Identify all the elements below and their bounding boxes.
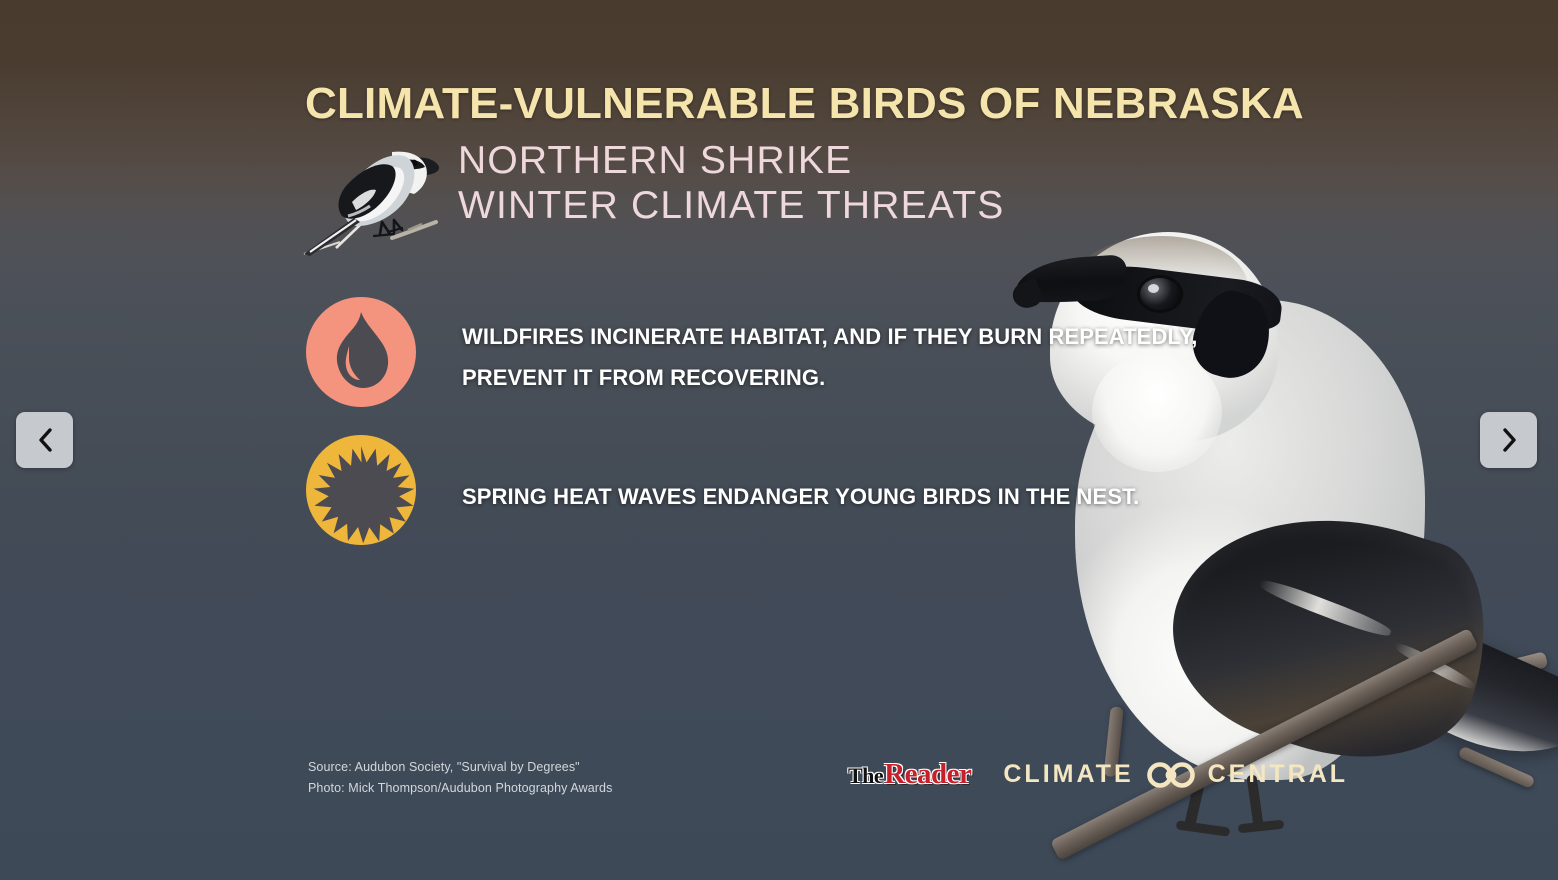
slide-subtitle: NORTHERN SHRIKE WINTER CLIMATE THREATS	[458, 138, 1004, 228]
prev-slide-button[interactable]	[16, 412, 73, 468]
chevron-left-icon	[36, 427, 54, 453]
photo-credit: Photo: Mick Thompson/Audubon Photography…	[308, 778, 612, 799]
shrike-illustration-icon	[296, 130, 446, 256]
source-credit: Source: Audubon Society, "Survival by De…	[308, 757, 612, 778]
page-title: CLIMATE-VULNERABLE BIRDS OF NEBRASKA	[305, 79, 1304, 129]
threat-text: SPRING HEAT WAVES ENDANGER YOUNG BIRDS I…	[462, 434, 1139, 517]
the-reader-logo: The Reader	[848, 760, 971, 789]
climate-central-logo: CLIMATE CENTRAL	[1003, 760, 1348, 789]
climate-central-word-right: CENTRAL	[1208, 760, 1348, 789]
branch-twig	[1458, 746, 1536, 790]
threat-item: SPRING HEAT WAVES ENDANGER YOUNG BIRDS I…	[305, 434, 1139, 546]
species-name: NORTHERN SHRIKE	[458, 139, 852, 182]
infinity-rings-icon	[1145, 762, 1197, 788]
slide-canvas: CLIMATE-VULNERABLE BIRDS OF NEBRASKA NOR…	[0, 0, 1558, 880]
bird-foot	[1238, 820, 1285, 834]
sun-icon	[305, 434, 417, 546]
threat-item: WILDFIRES INCINERATE HABITAT, AND IF THE…	[305, 296, 1262, 408]
chevron-right-icon	[1500, 427, 1518, 453]
climate-central-word-left: CLIMATE	[1003, 760, 1133, 789]
threat-text: WILDFIRES INCINERATE HABITAT, AND IF THE…	[462, 296, 1262, 398]
threat-category: WINTER CLIMATE THREATS	[458, 183, 1004, 228]
bird-foot	[1176, 820, 1231, 836]
logo-row: The Reader CLIMATE CENTRAL	[848, 760, 1348, 789]
credits: Source: Audubon Society, "Survival by De…	[308, 757, 612, 799]
the-reader-the: The	[848, 765, 883, 787]
flame-icon	[305, 296, 417, 408]
the-reader-name: Reader	[884, 760, 971, 789]
next-slide-button[interactable]	[1480, 412, 1537, 468]
